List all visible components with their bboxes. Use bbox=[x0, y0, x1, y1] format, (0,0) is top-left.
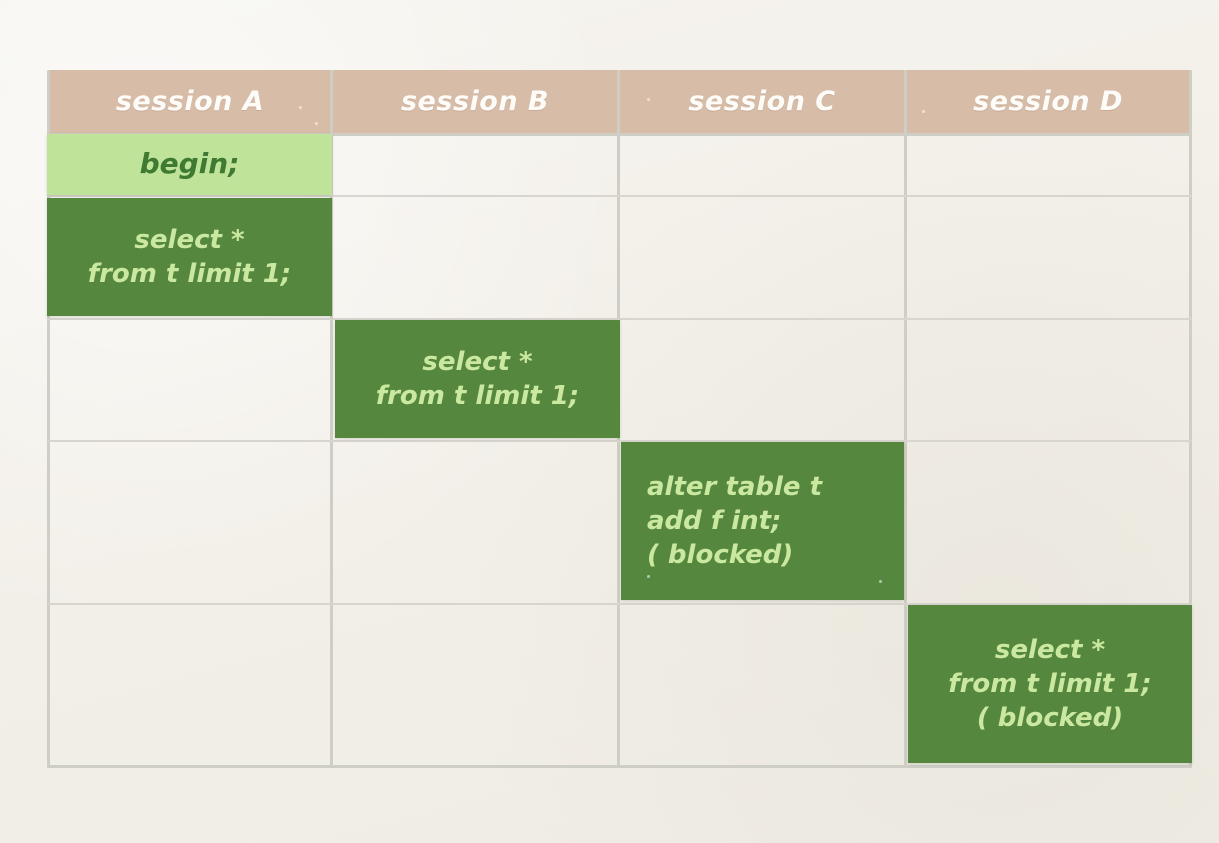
statement-line: select * bbox=[134, 223, 244, 257]
statement-line: from t limit 1; bbox=[88, 257, 291, 291]
cell-session-c-alter: alter table t add f int; ( blocked) bbox=[621, 442, 904, 600]
column-header-session-d: session D bbox=[907, 70, 1189, 133]
statement-line: select * bbox=[995, 633, 1105, 667]
statement-line: alter table t bbox=[647, 470, 822, 504]
column-header-label: session D bbox=[973, 86, 1123, 117]
statement-line: select * bbox=[422, 345, 532, 379]
statement-line-blocked: ( blocked) bbox=[977, 701, 1123, 735]
column-header-label: session C bbox=[688, 86, 835, 117]
gridline-col-c-d bbox=[904, 70, 907, 768]
column-header-session-b: session B bbox=[333, 70, 617, 133]
session-timeline-table: session A session B session C session D … bbox=[47, 70, 1192, 768]
statement-line: begin; bbox=[140, 146, 240, 183]
cell-session-a-begin: begin; bbox=[47, 134, 332, 195]
statement-line: from t limit 1; bbox=[948, 667, 1151, 701]
statement-line-blocked: ( blocked) bbox=[647, 538, 793, 572]
column-header-label: session B bbox=[401, 86, 549, 117]
statement-line: from t limit 1; bbox=[376, 379, 579, 413]
cell-session-a-select: select * from t limit 1; bbox=[47, 198, 332, 316]
column-header-session-a: session A bbox=[50, 70, 330, 133]
gridline-row3-row4 bbox=[47, 440, 1192, 442]
cell-session-d-select: select * from t limit 1; ( blocked) bbox=[908, 605, 1192, 763]
column-header-session-c: session C bbox=[620, 70, 904, 133]
statement-line: add f int; bbox=[647, 504, 781, 538]
cell-session-b-select: select * from t limit 1; bbox=[335, 320, 620, 438]
column-header-label: session A bbox=[116, 86, 264, 117]
gridline-row1-row2 bbox=[47, 195, 1192, 197]
